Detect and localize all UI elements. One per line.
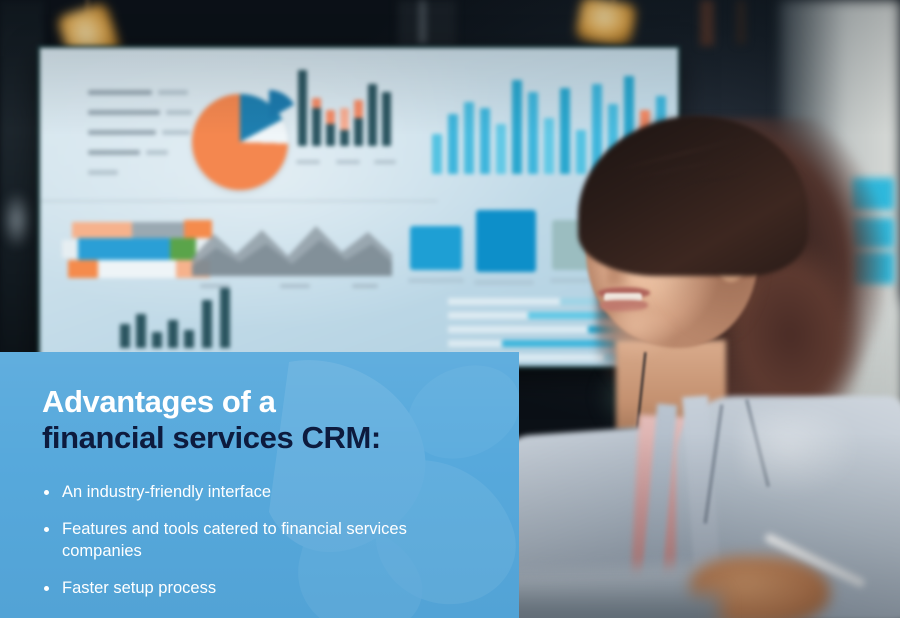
bar xyxy=(168,320,178,348)
bar-cap xyxy=(326,110,335,124)
kpi-block xyxy=(476,210,536,272)
table-cell xyxy=(78,238,170,260)
table-cell xyxy=(68,260,98,278)
bar xyxy=(340,128,349,146)
bar xyxy=(528,92,538,174)
axis-label xyxy=(296,160,320,164)
overlay-content: Advantages of a financial services CRM: … xyxy=(42,384,493,600)
bar xyxy=(368,84,377,146)
axis-label xyxy=(352,284,378,288)
bar xyxy=(120,324,130,348)
bar xyxy=(152,332,162,348)
ceiling-beam xyxy=(700,0,714,46)
section-divider xyxy=(38,200,438,202)
kpi-block xyxy=(410,226,462,270)
axis-label xyxy=(374,160,396,164)
table-cell xyxy=(62,240,78,258)
legend-line xyxy=(88,110,160,115)
kpi-label xyxy=(408,278,464,283)
headline-line-1: Advantages of a xyxy=(42,384,275,419)
axis-label xyxy=(336,160,360,164)
headline-line-2: financial services CRM: xyxy=(42,420,381,455)
legend-line xyxy=(88,130,156,135)
advantages-list: An industry-friendly interface Features … xyxy=(42,482,493,600)
shoulder-highlight xyxy=(740,410,860,500)
list-item: Faster setup process xyxy=(42,578,462,600)
bar xyxy=(202,300,212,348)
bar xyxy=(136,314,146,348)
legend-line xyxy=(166,110,192,115)
legend-line xyxy=(88,90,152,95)
legend-line xyxy=(162,130,190,135)
table-cell xyxy=(132,222,184,238)
bar xyxy=(512,80,522,174)
ceiling-pillar xyxy=(420,0,425,44)
banner-stage: Advantages of a financial services CRM: … xyxy=(0,0,900,618)
bar xyxy=(560,88,570,174)
bar xyxy=(544,118,554,174)
page-title: Advantages of a financial services CRM: xyxy=(42,384,493,456)
bar xyxy=(382,92,391,146)
legend-line xyxy=(88,150,140,155)
bar xyxy=(576,130,586,174)
bar xyxy=(496,124,506,174)
text-overlay-panel: Advantages of a financial services CRM: … xyxy=(0,352,519,618)
bar xyxy=(464,102,474,174)
chin xyxy=(596,310,676,360)
table-cell xyxy=(98,260,176,278)
left-wall-highlight xyxy=(2,190,32,250)
bar-cap xyxy=(312,98,321,108)
kpi-label xyxy=(550,278,590,283)
bar xyxy=(448,114,458,174)
list-item: An industry-friendly interface xyxy=(42,482,462,504)
legend-line xyxy=(146,150,168,155)
list-item: Features and tools catered to financial … xyxy=(42,519,462,563)
bar xyxy=(298,70,307,146)
legend-line xyxy=(88,170,118,175)
bar xyxy=(354,116,363,146)
bar xyxy=(432,134,442,174)
bar xyxy=(312,106,321,146)
area-chart xyxy=(192,214,392,276)
bar-cap xyxy=(354,100,363,118)
bar xyxy=(220,288,230,348)
legend-line xyxy=(158,90,188,95)
bar xyxy=(480,108,490,174)
kpi-label xyxy=(474,280,534,285)
ceiling-beam xyxy=(736,0,746,44)
pie-exploded-slice xyxy=(240,90,298,148)
table-cell xyxy=(72,222,132,238)
bar-cap xyxy=(340,108,349,130)
ceiling-pillar xyxy=(398,0,456,48)
bar xyxy=(326,122,335,146)
bar xyxy=(184,330,194,348)
axis-label xyxy=(280,284,310,288)
